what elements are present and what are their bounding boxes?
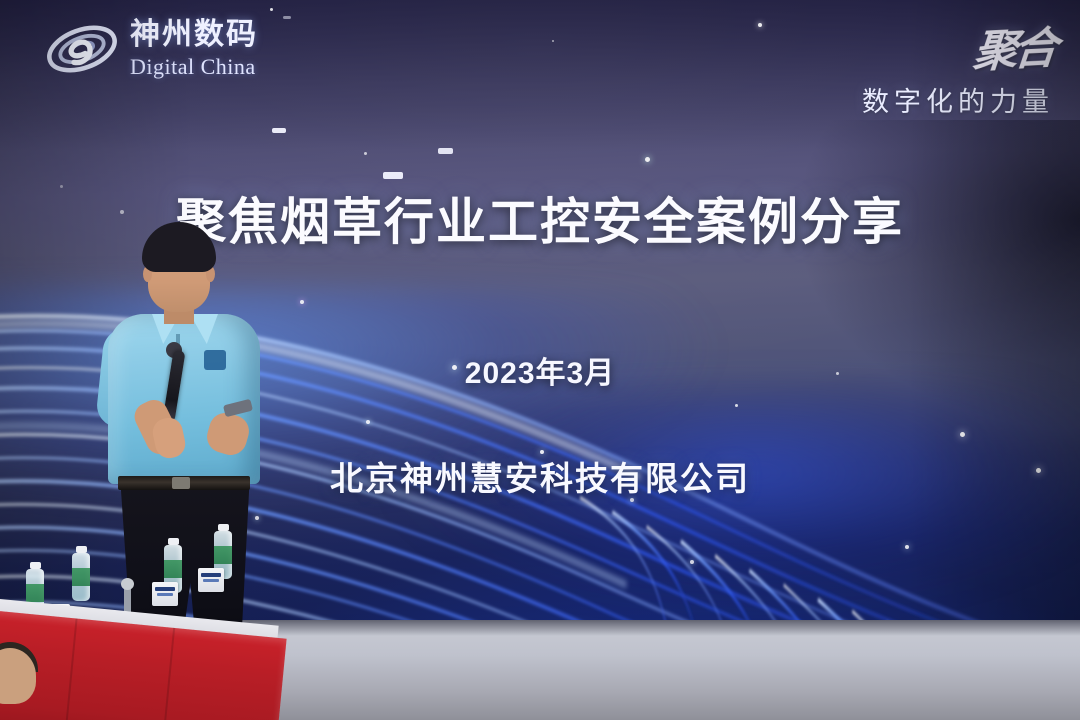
name-card-line [157,593,173,596]
screen-particle [552,40,554,42]
screen-particle [690,560,694,564]
cloth-fold [161,628,175,720]
bottle-label [164,560,182,578]
presenter-polo-shirt [108,314,260,484]
name-card-line [203,579,219,582]
name-card-line [201,573,221,577]
conference-photo: 神州数码 Digital China 聚合 数字化的力量 聚焦烟草行业工控安全案… [0,0,1080,720]
presenter-shirt-logo [204,350,226,370]
digital-china-logo: 神州数码 Digital China [44,18,258,80]
water-bottle [72,546,90,601]
presenter-belt-buckle [172,477,190,489]
event-calligraphy: 聚合 [971,12,1057,80]
name-card [152,582,178,606]
screen-particle [283,16,291,19]
name-card-line [155,587,175,591]
screen-particle [383,172,403,179]
bottle-cap [76,546,87,553]
bottle-body [72,553,90,601]
bottle-label [214,546,232,564]
screen-particle [758,23,762,27]
event-logo: 聚合 数字化的力量 [862,14,1054,119]
screen-particle [960,432,965,437]
event-tagline: 数字化的力量 [862,80,1054,119]
bottle-cap [218,524,229,531]
screen-particle [905,545,909,549]
bottle-cap [30,562,41,569]
bottle-cap [168,538,179,545]
screen-particle [366,420,370,424]
screen-particle [300,300,304,304]
screen-particle [270,8,273,11]
presenter-hair [142,222,216,272]
brand-name-cn: 神州数码 [130,20,258,50]
screen-particle [364,152,367,155]
bottle-label [26,584,44,602]
audience-table [0,560,300,720]
brand-name-en: Digital China [130,56,258,78]
cloth-fold [63,618,77,720]
digital-china-swirl-icon [44,18,120,80]
screen-particle [272,128,286,133]
name-card [198,568,224,592]
screen-particle [645,157,650,162]
screen-particle [438,148,453,154]
screen-particle [735,404,738,407]
bottle-label [72,568,90,586]
